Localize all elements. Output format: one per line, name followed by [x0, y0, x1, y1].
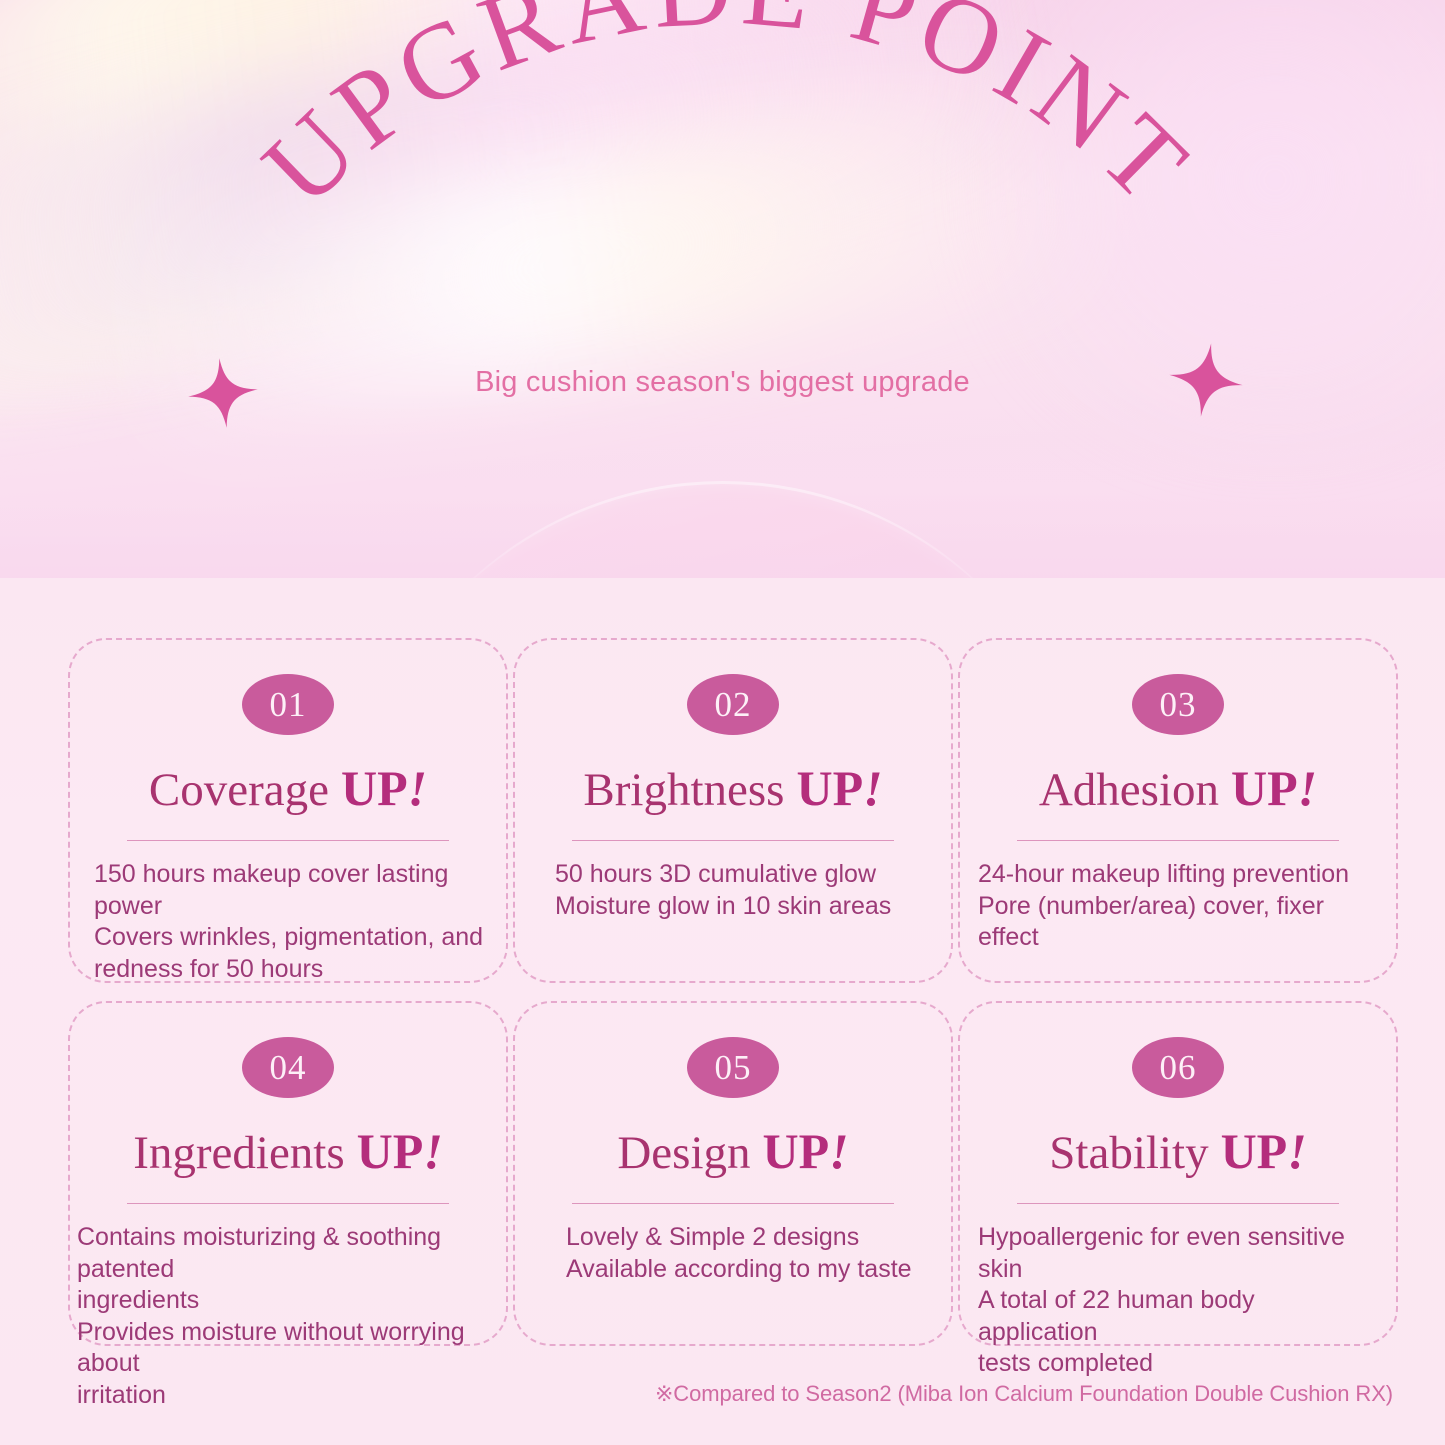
card-title-text: Design — [617, 1127, 750, 1179]
upgrade-points-section: 01 CoverageUP! 150 hours makeup cover la… — [0, 578, 1445, 1445]
upgrade-card-04: 04 IngredientsUP! Contains moisturizing … — [68, 1001, 508, 1346]
card-title-text: Adhesion — [1039, 764, 1219, 816]
upgrade-card-03: 03 AdhesionUP! 24-hour makeup lifting pr… — [958, 638, 1398, 983]
card-number-badge: 06 — [1132, 1037, 1224, 1098]
upgrade-point-infographic: UPGRADE POINT Big cushion season's bigge… — [0, 0, 1445, 1445]
card-number: 05 — [715, 1050, 752, 1085]
card-title-text: Stability — [1049, 1127, 1208, 1179]
card-title: AdhesionUP! — [1039, 762, 1317, 815]
card-up-label: UP — [357, 1123, 424, 1179]
card-number-badge: 04 — [242, 1037, 334, 1098]
card-body-text: Contains moisturizing & soothing patente… — [77, 1222, 495, 1411]
card-number: 04 — [270, 1050, 307, 1085]
card-number-badge: 05 — [687, 1037, 779, 1098]
card-up-label: UP — [796, 760, 863, 816]
card-body-text: 150 hours makeup cover lasting power Cov… — [94, 859, 484, 985]
upgrade-points-grid: 01 CoverageUP! 150 hours makeup cover la… — [68, 638, 1378, 1346]
upgrade-card-02: 02 BrightnessUP! 50 hours 3D cumulative … — [513, 638, 953, 983]
card-number: 01 — [270, 687, 307, 722]
card-title-text: Coverage — [149, 764, 329, 816]
card-divider — [127, 1203, 449, 1204]
card-up-label: UP — [1221, 1123, 1288, 1179]
card-body-text: Lovely & Simple 2 designs Available acco… — [566, 1222, 916, 1285]
card-up-bang: ! — [829, 1123, 848, 1179]
card-divider — [572, 840, 894, 841]
card-number-badge: 02 — [687, 674, 779, 735]
card-title-text: Brightness — [583, 764, 784, 816]
card-number: 06 — [1160, 1050, 1197, 1085]
card-number-badge: 03 — [1132, 674, 1224, 735]
card-up-bang: ! — [1287, 1123, 1306, 1179]
card-title: StabilityUP! — [1049, 1125, 1306, 1178]
card-title: DesignUP! — [617, 1125, 848, 1178]
card-title: BrightnessUP! — [583, 762, 882, 815]
card-body-text: 24-hour makeup lifting prevention Pore (… — [978, 859, 1378, 954]
card-up-bang: ! — [863, 760, 882, 816]
card-up-bang: ! — [1298, 760, 1317, 816]
upgrade-card-05: 05 DesignUP! Lovely & Simple 2 designs A… — [513, 1001, 953, 1346]
card-number: 03 — [1160, 687, 1197, 722]
card-divider — [1017, 840, 1339, 841]
card-up-label: UP — [763, 1123, 830, 1179]
card-number-badge: 01 — [242, 674, 334, 735]
card-divider — [572, 1203, 894, 1204]
card-title: CoverageUP! — [149, 762, 427, 815]
card-title-text: Ingredients — [133, 1127, 344, 1179]
page-subtitle: Big cushion season's biggest upgrade — [0, 366, 1445, 399]
upgrade-card-06: 06 StabilityUP! Hypoallergenic for even … — [958, 1001, 1398, 1346]
card-up-label: UP — [341, 760, 408, 816]
card-body-text: Hypoallergenic for even sensitive skin A… — [978, 1222, 1378, 1380]
header-banner: UPGRADE POINT Big cushion season's bigge… — [0, 0, 1445, 578]
card-up-label: UP — [1231, 760, 1298, 816]
card-divider — [127, 840, 449, 841]
upgrade-card-01: 01 CoverageUP! 150 hours makeup cover la… — [68, 638, 508, 983]
card-body-text: 50 hours 3D cumulative glow Moisture glo… — [555, 859, 915, 922]
card-number: 02 — [715, 687, 752, 722]
footnote: ※Compared to Season2 (Miba Ion Calcium F… — [655, 1381, 1393, 1407]
card-up-bang: ! — [423, 1123, 442, 1179]
card-up-bang: ! — [408, 760, 427, 816]
card-title: IngredientsUP! — [133, 1125, 443, 1178]
card-divider — [1017, 1203, 1339, 1204]
